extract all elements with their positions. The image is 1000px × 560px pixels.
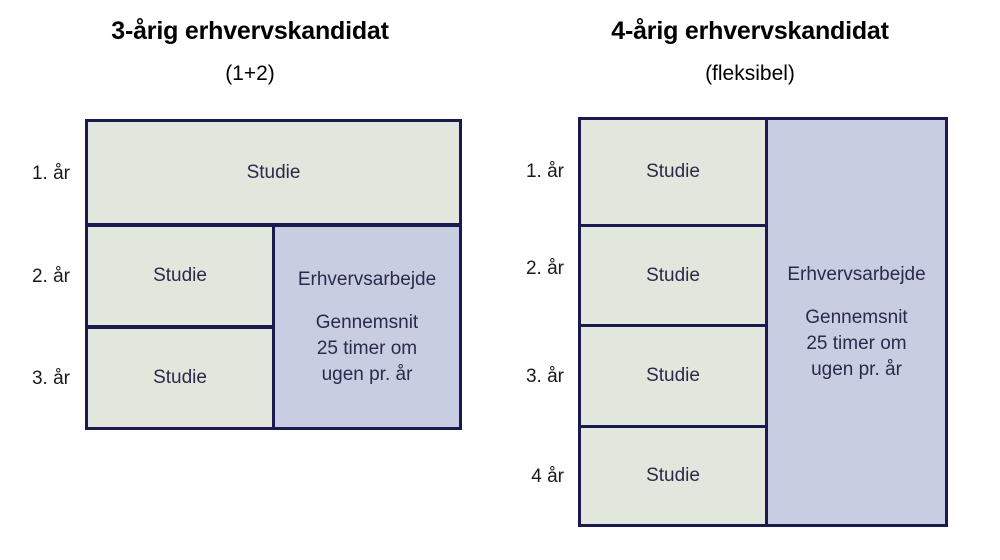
year-label-2: 2. år [502,258,564,280]
program-title: 3-årig erhvervskandidat [0,17,500,46]
cell-label: Studie [153,365,207,391]
cell-label: Studie [646,263,700,289]
work-heading: Erhvervsarbejde [787,262,925,288]
year-label-2: 2. år [8,266,70,288]
cell-year2-study: Studie [578,224,768,327]
year-label-4: 4 år [502,466,564,488]
cell-label: Studie [646,463,700,489]
cell-year3-study: Studie [85,326,275,430]
cell-work-block: Erhvervsarbejde Gennemsnit 25 timer om u… [272,224,462,430]
work-heading: Erhvervsarbejde [298,267,436,293]
cell-year1-study: Studie [85,119,462,226]
work-detail: Gennemsnit 25 timer om ugen pr. år [316,310,418,387]
cell-year1-study: Studie [578,117,768,227]
cell-label: Studie [247,160,301,186]
year-label-3: 3. år [502,366,564,388]
program-subtitle: (1+2) [0,62,500,86]
cell-label: Studie [646,363,700,389]
year-label-3: 3. år [8,368,70,390]
program-subtitle: (fleksibel) [500,62,1000,86]
cell-year2-study: Studie [85,224,275,328]
year-label-1: 1. år [502,161,564,183]
cell-year4-study: Studie [578,425,768,527]
program-title: 4-årig erhvervskandidat [500,17,1000,46]
cell-year3-study: Studie [578,324,768,428]
year-label-1: 1. år [8,163,70,185]
cell-label: Studie [646,159,700,185]
work-detail: Gennemsnit 25 timer om ugen pr. år [805,305,907,382]
cell-work-block: Erhvervsarbejde Gennemsnit 25 timer om u… [765,117,948,527]
cell-label: Studie [153,263,207,289]
